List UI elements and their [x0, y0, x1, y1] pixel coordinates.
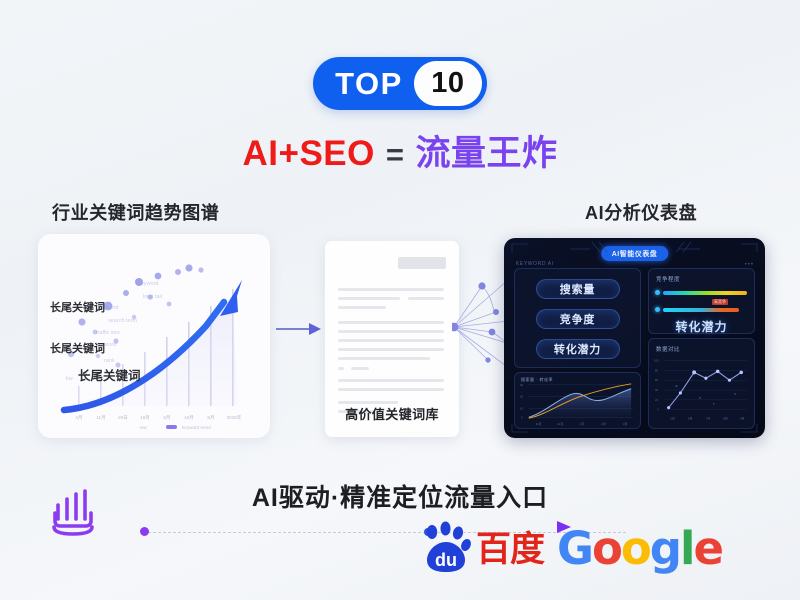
- baidu-text: 百度: [476, 532, 544, 567]
- ai-dashboard-card: AI智能仪表盘 KEYWORD AI ••• 搜索量 竞争度 转化潜力 搜索量 …: [504, 238, 765, 438]
- svg-text:0: 0: [657, 408, 659, 412]
- svg-text:traffic seo: traffic seo: [96, 330, 120, 336]
- svg-text:7月: 7月: [706, 416, 711, 420]
- gauge-dot-2: [655, 307, 660, 312]
- google-letter-l: l: [680, 522, 693, 575]
- line-chart-panel: 数据对比: [648, 338, 755, 429]
- headline-ai-seo: AI+SEO: [243, 134, 375, 173]
- svg-text:12月: 12月: [557, 422, 563, 426]
- gauge-overlay-label: 转化潜力: [675, 318, 727, 335]
- trend-keyword-label-2: 长尾关键词: [50, 340, 105, 356]
- metric-pill-competition[interactable]: 竞争度: [536, 309, 620, 329]
- svg-text:keyword trend: keyword trend: [182, 425, 211, 430]
- bottom-tagline: AI驱动·精准定位流量入口: [0, 478, 800, 514]
- google-letter-e: e: [693, 522, 722, 575]
- page-title: AI+SEO=流量王炸: [0, 125, 800, 176]
- google-letter-o2: o: [621, 522, 650, 575]
- top-badge-wrapper: TOP 10: [0, 57, 800, 110]
- bar-chart-icon: [45, 483, 101, 539]
- trend-keyword-label-1: 长尾关键词: [50, 299, 105, 315]
- svg-text:30: 30: [520, 383, 524, 387]
- slide-canvas: TOP 10 AI+SEO=流量王炸 行业关键词趋势图谱 AI分析仪表盘: [0, 0, 800, 600]
- trend-chart-svg: keyword keyword long tail search term tr…: [38, 234, 270, 438]
- metric-pill-conversion[interactable]: 转化潜力: [536, 339, 620, 359]
- badge-top-label: TOP: [335, 68, 414, 99]
- svg-text:2月: 2月: [601, 422, 606, 426]
- svg-text:100: 100: [654, 359, 659, 363]
- baidu-paw-icon: du: [418, 521, 474, 577]
- svg-text:5月: 5月: [670, 416, 675, 420]
- svg-text:11月: 11月: [536, 422, 542, 426]
- purple-play-arrow-icon: [553, 519, 575, 535]
- google-logo: Google: [557, 526, 722, 571]
- svg-text:10: 10: [520, 406, 524, 410]
- badge-number: 10: [414, 61, 482, 106]
- svg-text:0: 0: [521, 415, 523, 419]
- svg-text:9月: 9月: [740, 416, 745, 420]
- svg-text:80: 80: [655, 368, 659, 372]
- trend-keyword-label-3: 长尾关键词: [78, 365, 141, 384]
- area-chart-panel: 搜索量 · 转化率 11月: [514, 372, 641, 429]
- gauge-bar-2: [663, 308, 739, 312]
- gauge-panel-title: 竞争程度: [656, 275, 680, 283]
- baidu-du-text: du: [435, 550, 457, 570]
- google-letter-g2: g: [650, 522, 680, 575]
- flow-arrow-icon: [276, 322, 322, 336]
- svg-text:kw: kw: [66, 376, 73, 382]
- svg-text:4月: 4月: [75, 415, 82, 421]
- svg-text:8月: 8月: [723, 416, 728, 420]
- gauge-panel: 竞争程度 高竞争 转化潜力: [648, 268, 755, 334]
- svg-text:11月: 11月: [96, 415, 105, 421]
- svg-text:10月: 10月: [184, 415, 194, 421]
- svg-text:rank: rank: [104, 358, 115, 364]
- svg-text:1月: 1月: [580, 422, 585, 426]
- headline-equals: =: [386, 137, 405, 172]
- left-section-caption: 行业关键词趋势图谱: [52, 199, 219, 225]
- svg-text:8月: 8月: [163, 415, 170, 421]
- area-chart-svg: 11月 12月 1月 2月 3月 3020 100: [515, 373, 640, 429]
- svg-text:6月: 6月: [688, 416, 693, 420]
- svg-text:60: 60: [655, 378, 659, 382]
- gauge-dot-1: [655, 290, 660, 295]
- gauge-tag-badge: 高竞争: [712, 299, 728, 305]
- divider-dot-left: [140, 527, 149, 536]
- svg-text:8月: 8月: [207, 415, 214, 421]
- baidu-logo: du 百度: [418, 521, 544, 577]
- svg-text:3月: 3月: [623, 422, 628, 426]
- svg-text:18月: 18月: [140, 415, 150, 421]
- right-section-caption: AI分析仪表盘: [585, 199, 697, 225]
- svg-text:long tail: long tail: [143, 294, 162, 300]
- svg-text:20: 20: [520, 395, 524, 399]
- line-chart-svg: 10080 6040 200 5月6月 7月8月 9月: [649, 339, 754, 428]
- top-10-badge: TOP 10: [313, 57, 487, 110]
- gauge-bar-1: [663, 291, 747, 295]
- metrics-panel: 搜索量 竞争度 转化潜力: [514, 268, 641, 368]
- svg-text:20日: 20日: [118, 415, 128, 421]
- doc-card-label: 高价值关键词库: [325, 404, 459, 423]
- trend-chart-card: keyword keyword long tail search term tr…: [38, 234, 270, 438]
- svg-text:2025年: 2025年: [227, 414, 242, 421]
- svg-text:20: 20: [655, 398, 659, 402]
- svg-text:keyword: keyword: [138, 281, 158, 287]
- svg-text:40: 40: [655, 388, 659, 392]
- doc-header-block: [398, 257, 446, 269]
- headline-result: 流量王炸: [415, 134, 557, 173]
- keyword-library-doc-card: 高价值关键词库: [325, 241, 459, 437]
- svg-text:search term: search term: [108, 318, 137, 324]
- metric-pill-search-volume[interactable]: 搜索量: [536, 279, 620, 299]
- svg-text:· Kw: · Kw: [137, 425, 147, 430]
- google-letter-o1: o: [592, 522, 621, 575]
